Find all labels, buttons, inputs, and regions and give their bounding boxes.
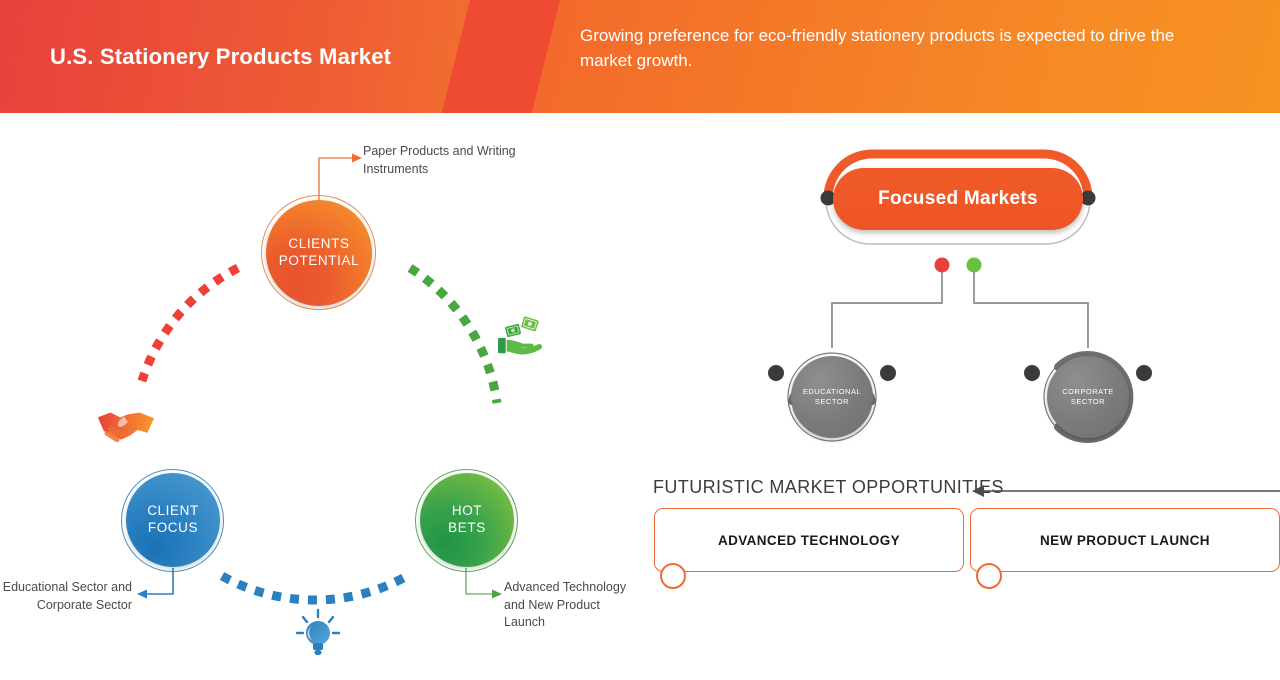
callout-client-focus: Educational Sector and Corporate Sector	[0, 579, 132, 614]
node-client-focus[interactable]: CLIENT FOCUS	[126, 473, 220, 567]
hot-bets-label-line2: BETS	[448, 520, 486, 537]
clients-potential-label-line2: POTENTIAL	[279, 253, 359, 270]
page-title: U.S. Stationery Products Market	[50, 44, 391, 70]
opportunity-advanced-technology[interactable]: ADVANCED TECHNOLOGY	[654, 508, 964, 572]
header-subtitle: Growing preference for eco-friendly stat…	[580, 24, 1180, 73]
cycle-diagram-panel: CLIENTS POTENTIAL Paper Products and Wri…	[0, 113, 640, 680]
educational-sector-dots	[766, 361, 898, 385]
money-in-hand-icon	[497, 313, 547, 359]
corporate-sector-label-line1: CORPORATE	[1062, 387, 1113, 396]
connector-hot	[466, 568, 492, 594]
header-banner: U.S. Stationery Products Market Growing …	[0, 0, 1280, 113]
focused-markets-title: Focused Markets	[878, 188, 1038, 210]
corporate-sector-dots	[1022, 361, 1154, 385]
node-hot-bets[interactable]: HOT BETS	[420, 473, 514, 567]
corporate-sector-label-line2: SECTOR	[1071, 397, 1105, 406]
callout-hot-bets: Advanced Technology and New Product Laun…	[504, 579, 644, 632]
focused-markets-panel: Focused Markets EDUCATIONAL SECTOR	[640, 113, 1280, 680]
arrowhead-hot	[492, 590, 502, 599]
handshake-icon	[95, 403, 157, 451]
arrowhead-clients	[352, 154, 362, 163]
arrowhead-focus	[137, 590, 147, 599]
new-product-launch-label: NEW PRODUCT LAUNCH	[1040, 533, 1210, 548]
client-focus-label-line1: CLIENT	[147, 503, 199, 520]
clients-potential-label-line1: CLIENTS	[279, 236, 359, 253]
educational-sector-label-line2: SECTOR	[815, 397, 849, 406]
focused-markets-group: Focused Markets	[808, 143, 1108, 253]
indicator-dot-green	[967, 258, 982, 273]
advanced-technology-label: ADVANCED TECHNOLOGY	[718, 533, 900, 548]
opportunities-arrow	[970, 481, 1280, 501]
node-clients-potential[interactable]: CLIENTS POTENTIAL	[266, 200, 372, 306]
callout-clients-potential: Paper Products and Writing Instruments	[363, 143, 523, 178]
hot-bets-label-line1: HOT	[448, 503, 486, 520]
educational-sector-label-line1: EDUCATIONAL	[803, 387, 861, 396]
sector-connectors	[640, 243, 1280, 363]
focused-markets-pill[interactable]: Focused Markets	[833, 168, 1083, 230]
new-product-launch-bullet	[976, 563, 1002, 589]
opportunity-new-product-launch[interactable]: NEW PRODUCT LAUNCH	[970, 508, 1280, 572]
infographic-root: U.S. Stationery Products Market Growing …	[0, 0, 1280, 680]
lightbulb-icon	[294, 608, 342, 660]
client-focus-label-line2: FOCUS	[147, 520, 199, 537]
indicator-dot-red	[935, 258, 950, 273]
advanced-technology-bullet	[660, 563, 686, 589]
opportunities-title: FUTURISTIC MARKET OPPORTUNITIES	[653, 477, 1004, 498]
